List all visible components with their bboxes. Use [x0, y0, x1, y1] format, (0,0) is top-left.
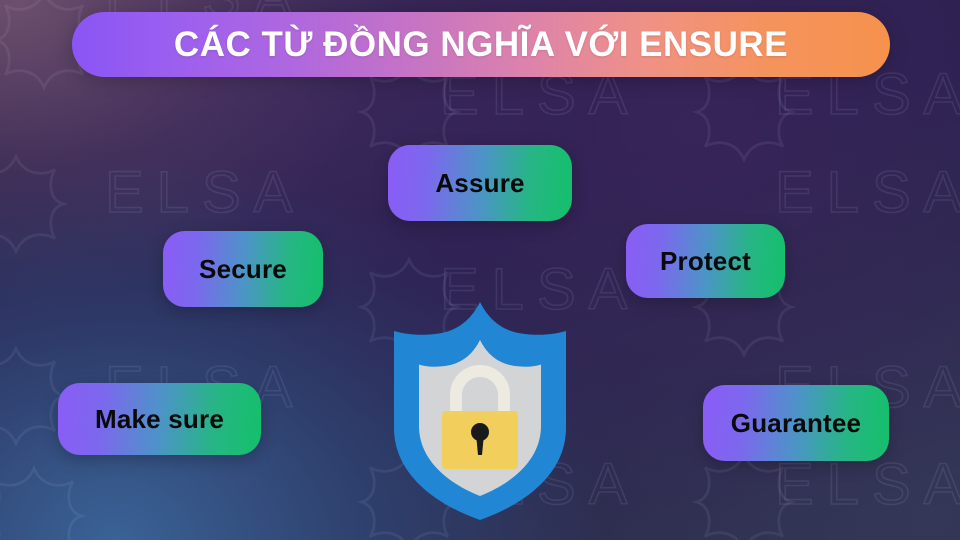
pill-secure[interactable]: Secure — [163, 231, 323, 307]
pill-assure-label: Assure — [435, 168, 524, 199]
infographic-canvas: ELSA ELSA ELSA ELSA ELSA ELSA ELSA ELSA … — [0, 0, 960, 540]
pill-guarantee[interactable]: Guarantee — [703, 385, 889, 461]
shield-lock-icon — [389, 300, 571, 522]
pill-make-sure[interactable]: Make sure — [58, 383, 261, 455]
pill-protect-label: Protect — [660, 246, 751, 277]
pill-guarantee-label: Guarantee — [731, 408, 861, 439]
page-title: CÁC TỪ ĐỒNG NGHĨA VỚI ENSURE — [174, 25, 788, 65]
shield-lock-illustration — [389, 300, 571, 522]
pill-assure[interactable]: Assure — [388, 145, 572, 221]
title-banner: CÁC TỪ ĐỒNG NGHĨA VỚI ENSURE — [72, 12, 890, 77]
pill-protect[interactable]: Protect — [626, 224, 785, 298]
pill-make-sure-label: Make sure — [95, 404, 224, 435]
pill-secure-label: Secure — [199, 254, 287, 285]
